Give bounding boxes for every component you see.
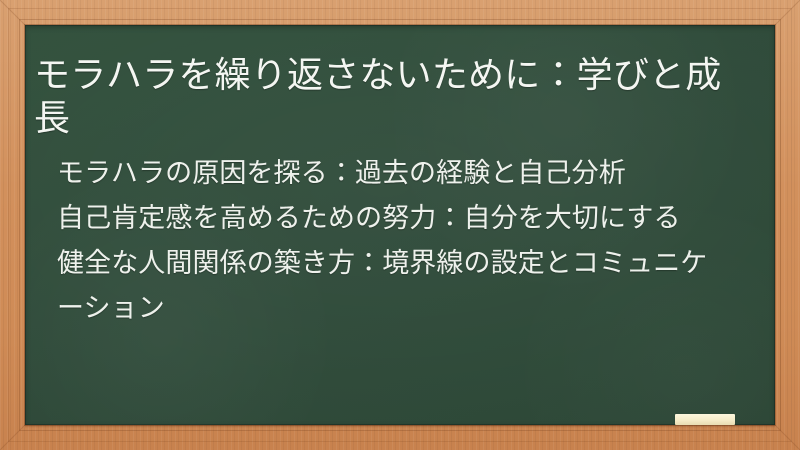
board-ledge-shadow (25, 425, 775, 428)
list-item: 自己肯定感を高めるための努力：自分を大切にする (57, 196, 717, 241)
list-item: 健全な人間関係の築き方：境界線の設定とコミュニケーション (57, 241, 717, 331)
board-content: モラハラを繰り返さないために：学びと成長 モラハラの原因を探る：過去の経験と自己… (25, 25, 775, 425)
slide-title: モラハラを繰り返さないために：学びと成長 (34, 53, 724, 139)
bullet-list: モラハラの原因を探る：過去の経験と自己分析 自己肯定感を高めるための努力：自分を… (57, 151, 717, 331)
chalk-stick-icon (675, 414, 735, 425)
slide-canvas: モラハラを繰り返さないために：学びと成長 モラハラの原因を探る：過去の経験と自己… (0, 0, 800, 450)
list-item: モラハラの原因を探る：過去の経験と自己分析 (57, 151, 717, 196)
chalkboard: モラハラを繰り返さないために：学びと成長 モラハラの原因を探る：過去の経験と自己… (25, 25, 775, 425)
